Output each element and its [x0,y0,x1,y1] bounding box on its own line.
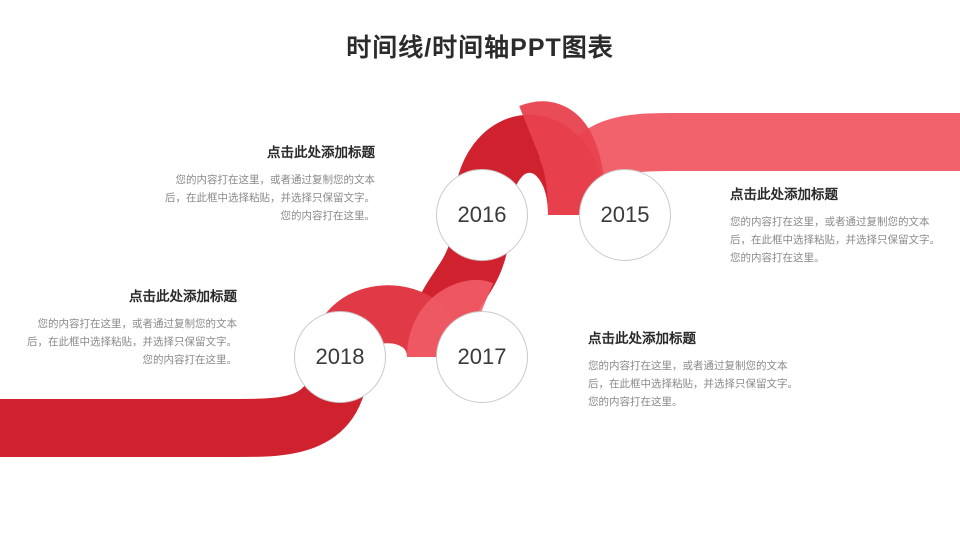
text-block-top-left: 点击此处添加标题 您的内容打在这里，或者通过复制您的文本后，在此框中选择粘贴，并… [160,144,375,226]
timeline-node-2015[interactable]: 2015 [579,169,671,261]
block-heading: 点击此处添加标题 [730,186,945,204]
block-heading: 点击此处添加标题 [588,330,803,348]
node-label: 2016 [458,202,507,228]
node-label: 2015 [601,202,650,228]
timeline-node-2018[interactable]: 2018 [294,311,386,403]
block-body: 您的内容打在这里，或者通过复制您的文本后，在此框中选择粘贴，并选择只保留文字。您… [160,171,375,226]
block-body: 您的内容打在这里，或者通过复制您的文本后，在此框中选择粘贴，并选择只保留文字。您… [588,357,803,412]
slide-canvas: 时间线/时间轴PPT图表 2016 2015 2018 [0,0,960,540]
timeline-ribbon [0,0,960,540]
node-label: 2017 [458,344,507,370]
block-body: 您的内容打在这里，或者通过复制您的文本后，在此框中选择粘贴，并选择只保留文字。您… [730,213,945,268]
block-heading: 点击此处添加标题 [22,288,237,306]
timeline-node-2017[interactable]: 2017 [436,311,528,403]
node-label: 2018 [316,344,365,370]
text-block-bottom-right: 点击此处添加标题 您的内容打在这里，或者通过复制您的文本后，在此框中选择粘贴，并… [588,330,803,412]
block-heading: 点击此处添加标题 [160,144,375,162]
text-block-top-right: 点击此处添加标题 您的内容打在这里，或者通过复制您的文本后，在此框中选择粘贴，并… [730,186,945,268]
text-block-bottom-left: 点击此处添加标题 您的内容打在这里，或者通过复制您的文本后，在此框中选择粘贴，并… [22,288,237,370]
block-body: 您的内容打在这里，或者通过复制您的文本后，在此框中选择粘贴，并选择只保留文字。您… [22,315,237,370]
timeline-node-2016[interactable]: 2016 [436,169,528,261]
